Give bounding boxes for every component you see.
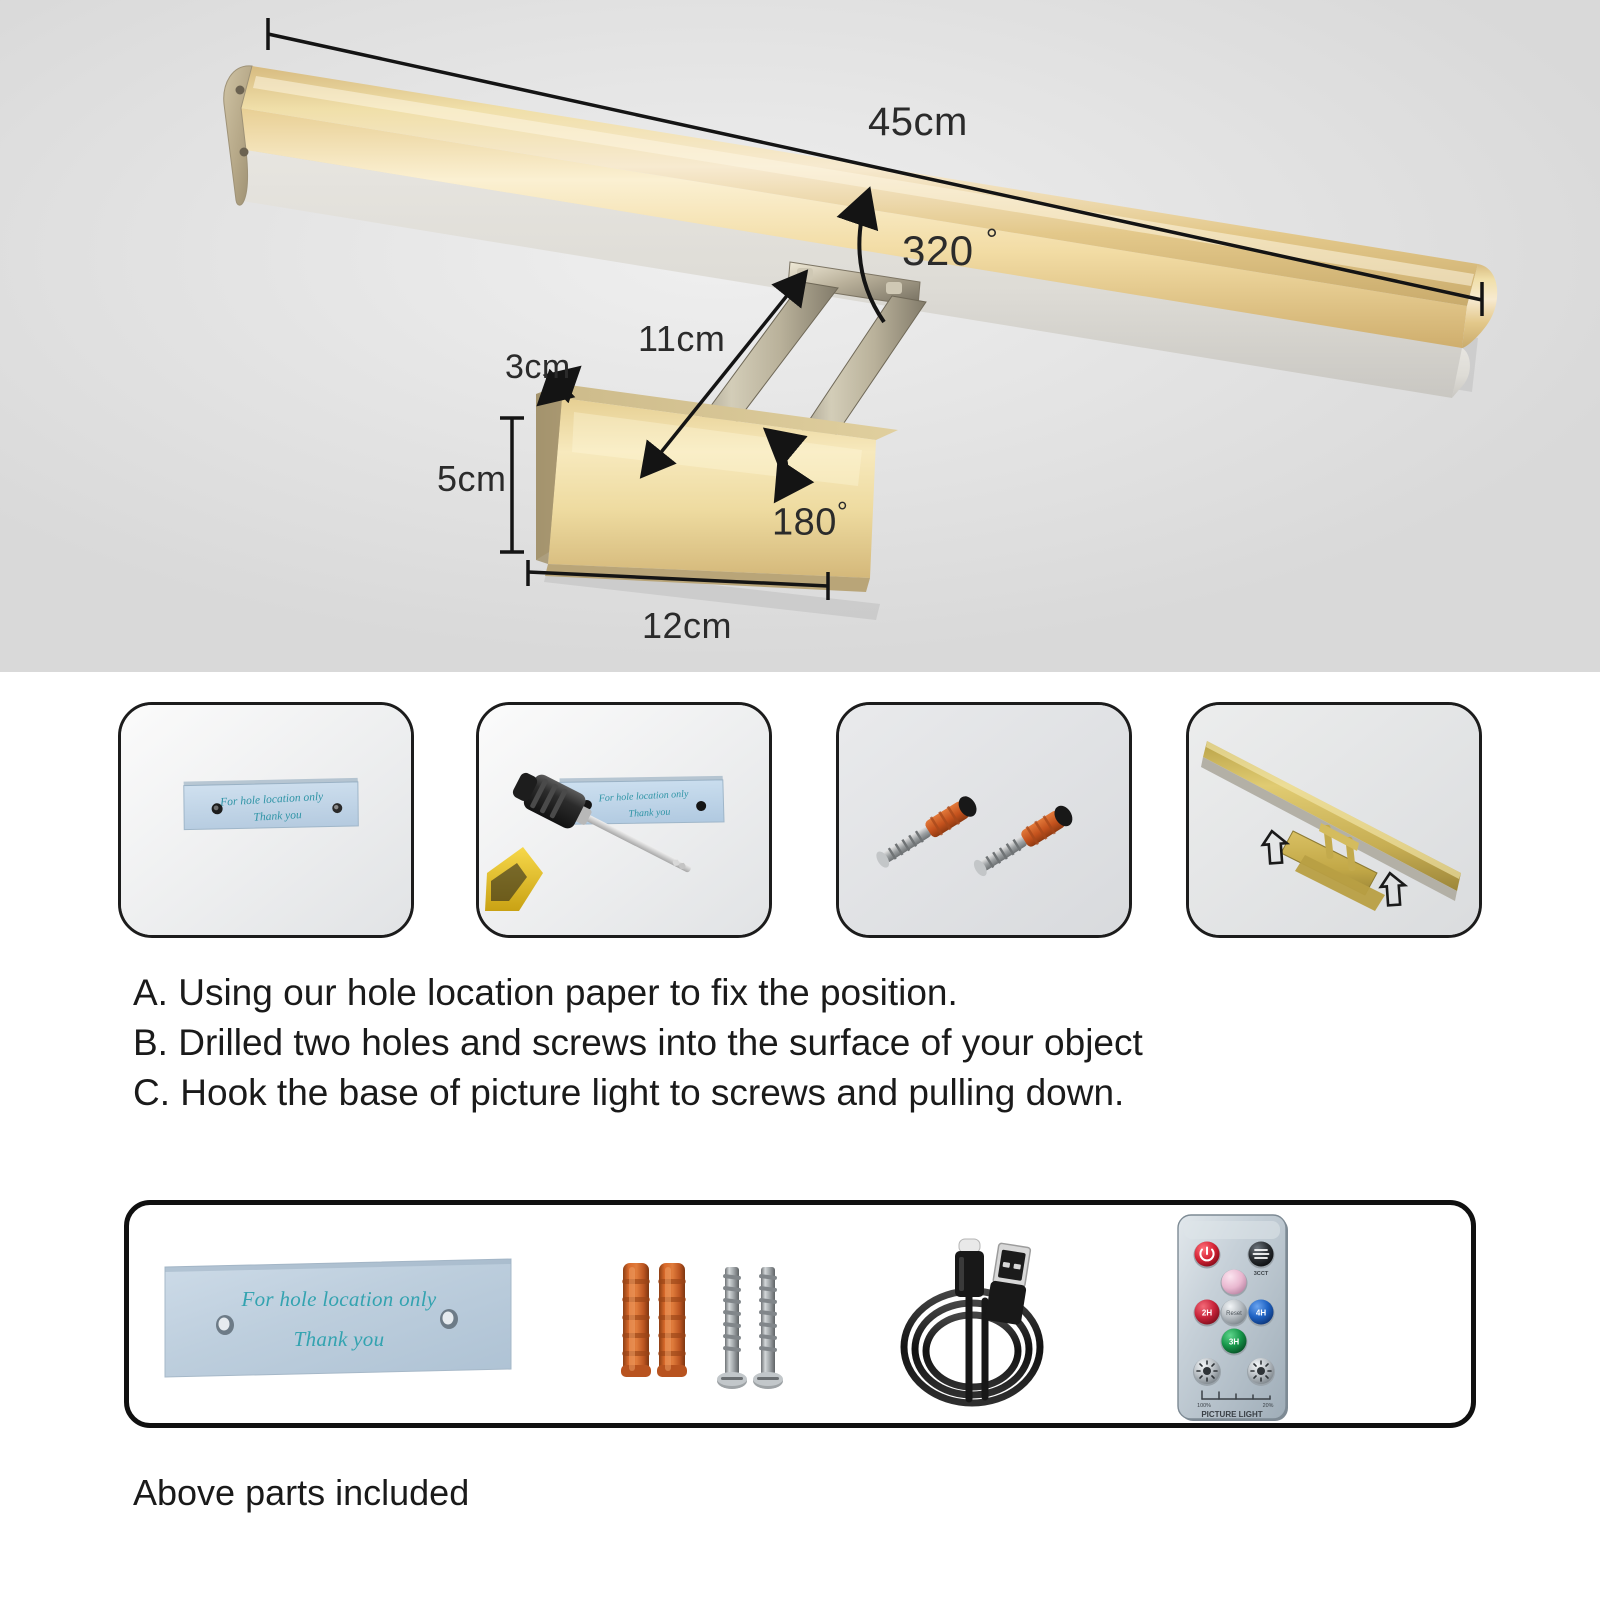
installation-step-gallery: For hole location only Thank you [0,690,1600,950]
product-dimension-diagram: 45cm 320 ° 11cm 3cm 5cm 12cm 180° [0,0,1600,672]
rotation-label-head: 320 ° [902,224,998,275]
part-screws [707,1241,797,1406]
instruction-sheet: 45cm 320 ° 11cm 3cm 5cm 12cm 180° [0,0,1600,1600]
cct-label: 3CCT [1254,1271,1269,1277]
parts-included-caption: Above parts included [133,1472,469,1514]
template-line-2: Thank you [159,1327,519,1352]
installation-instructions: A. Using our hole location paper to fix … [133,970,1433,1120]
instruction-line-c: C. Hook the base of picture light to scr… [133,1070,1433,1116]
rotation-label-arm: 180° [772,496,848,545]
part-hole-location-template: For hole location only Thank you [159,1253,519,1385]
part-remote-control: 3CCT 2H Reset [1169,1211,1299,1432]
instruction-line-a: A. Using our hole location paper to fix … [133,970,1433,1016]
usb-c-connector [955,1239,984,1297]
svg-text:Thank you: Thank you [628,807,670,820]
anchor-2 [657,1263,687,1377]
svg-text:2H: 2H [1202,1309,1212,1318]
screw-1 [717,1267,747,1389]
color-button [1221,1270,1248,1297]
timer-3h-button: 3H [1221,1329,1248,1356]
reset-button: Reset [1221,1300,1248,1327]
svg-text:4H: 4H [1256,1309,1266,1318]
timer-4h-button: 4H [1248,1300,1275,1327]
template-line-1: For hole location only [159,1287,519,1312]
power-button [1194,1242,1221,1269]
svg-text:Reset: Reset [1226,1311,1242,1317]
cct-button [1248,1242,1275,1269]
step-card-hole-location-paper: For hole location only Thank you [118,702,414,938]
brightness-down-button [1247,1358,1275,1386]
instruction-line-b: B. Drilled two holes and screws into the… [133,1020,1433,1066]
dimension-label-arm: 11cm [638,318,725,360]
scale-100-label: 100% [1197,1403,1211,1409]
included-parts-box: For hole location only Thank you [124,1200,1476,1428]
dimension-label-base-depth: 3cm [505,348,571,387]
dimension-label-length: 45cm [868,100,968,145]
scale-20-label: 20% [1263,1403,1274,1409]
svg-text:3H: 3H [1229,1338,1239,1347]
dimension-label-base-width: 12cm [642,605,732,647]
remote-caption: PICTURE LIGHT [1201,1410,1262,1419]
screw-2 [753,1267,783,1389]
anchor-1 [621,1263,651,1377]
part-usb-cable [869,1223,1079,1424]
part-wall-anchors [609,1241,699,1406]
dimension-label-base-height: 5cm [437,458,507,500]
step-card-screws-and-anchors [836,702,1132,938]
step-card-hook-base [1186,702,1482,938]
step-card-drilling: For hole location only Thank you [476,702,772,938]
hero-illustration [0,0,1600,672]
brightness-up-button [1193,1358,1221,1386]
timer-2h-button: 2H [1194,1300,1221,1327]
